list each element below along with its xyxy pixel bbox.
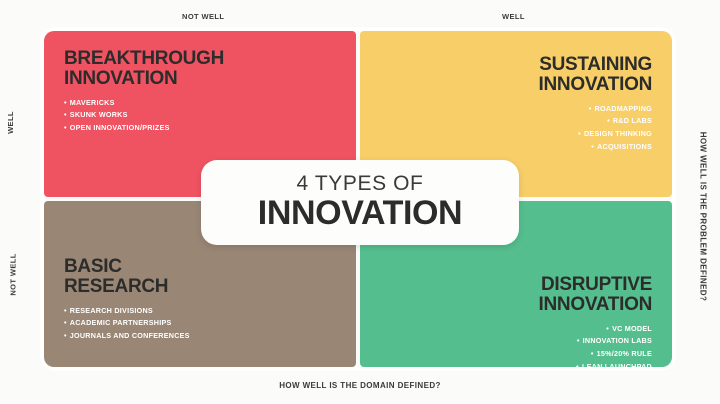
quadrant-item: JOURNALS AND CONFERENCES [64,330,336,343]
axis-label-bottom: HOW WELL IS THE DOMAIN DEFINED? [0,381,720,390]
innovation-matrix-infographic: NOT WELL WELL WELL NOT WELL HOW WELL IS … [0,0,720,404]
quadrant-item-list: ROADMAPPINGR&D LABSDESIGN THINKINGACQUIS… [380,103,652,154]
quadrant-item: VC MODEL [380,323,652,336]
quadrant-title-line2: INNOVATION [380,295,652,315]
axis-label-right: HOW WELL IS THE PROBLEM DEFINED? [699,132,708,302]
quadrant-title: BREAKTHROUGH INNOVATION [64,49,336,90]
quadrant-title-line2: INNOVATION [64,69,336,89]
quadrant-title-line2: RESEARCH [64,277,336,297]
quadrant-item: 15%/20% RULE [380,348,652,361]
quadrant-title: SUSTAINING INNOVATION [380,55,652,96]
axis-label-left-lower: NOT WELL [9,253,18,295]
center-title-badge: 4 TYPES OF INNOVATION [201,160,519,245]
quadrant-item-list: MAVERICKSSKUNK WORKSOPEN INNOVATION/PRIZ… [64,97,336,135]
badge-title: INNOVATION [258,194,462,232]
quadrant-title-line1: BREAKTHROUGH [64,48,224,69]
quadrant-item: SKUNK WORKS [64,109,336,122]
axis-label-left-upper: WELL [6,111,15,134]
quadrant-item-list: RESEARCH DIVISIONSACADEMIC PARTNERSHIPSJ… [64,305,336,343]
quadrant-item: R&D LABS [380,115,652,128]
quadrant-item: INNOVATION LABS [380,335,652,348]
quadrant-item-list: VC MODELINNOVATION LABS15%/20% RULELEAN … [380,323,652,367]
axis-label-top-right: WELL [502,12,525,21]
quadrant-item: RESEARCH DIVISIONS [64,305,336,318]
quadrant-item: OPEN INNOVATION/PRIZES [64,122,336,135]
quadrant-title-line1: SUSTAINING [539,54,652,75]
quadrant-title-line1: DISRUPTIVE [541,274,652,295]
quadrant-item: MAVERICKS [64,97,336,110]
quadrant-item: DESIGN THINKING [380,128,652,141]
quadrant-title-line2: INNOVATION [380,75,652,95]
quadrant-item: ACADEMIC PARTNERSHIPS [64,317,336,330]
quadrant-item: ROADMAPPING [380,103,652,116]
quadrant-title: BASIC RESEARCH [64,257,336,298]
quadrant-title-line1: BASIC [64,256,122,277]
quadrant-item: ACQUISITIONS [380,141,652,154]
quadrant-title: DISRUPTIVE INNOVATION [380,275,652,316]
quadrant-item: LEAN LAUNCHPAD [380,361,652,367]
axis-label-top-left: NOT WELL [182,12,224,21]
badge-subtitle: 4 TYPES OF [297,173,424,194]
